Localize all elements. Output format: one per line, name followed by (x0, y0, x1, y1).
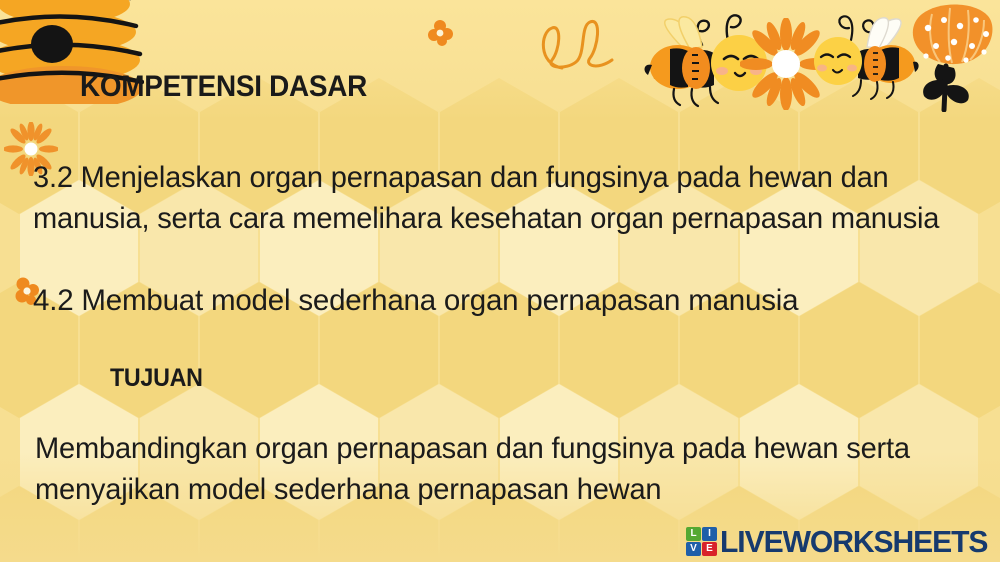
badge-letter-l: L (686, 527, 701, 541)
cursive-squiggle-icon (532, 16, 627, 74)
tujuan-body-text: Membandingkan organ pernapasan dan fungs… (35, 428, 961, 510)
logo-wordmark: LIVEWORKSHEETS (720, 526, 987, 557)
worksheet-slide: KOMPETENSI DASAR 3.2 Menjelaskan organ p… (0, 0, 1000, 562)
live-badge-icon: L I V E (686, 527, 717, 556)
small-flower-icon (425, 18, 455, 48)
kompetensi-item-2: 4.2 Membuat model sederhana organ pernap… (33, 280, 983, 321)
liveworksheets-logo: L I V E LIVEWORKSHEETS (686, 524, 996, 558)
kompetensi-item-1: 3.2 Menjelaskan organ pernapasan dan fun… (33, 157, 969, 239)
badge-letter-i: I (702, 527, 717, 541)
kompetensi-dasar-heading: KOMPETENSI DASAR (80, 70, 367, 104)
badge-letter-v: V (686, 542, 701, 556)
badge-letter-e: E (702, 542, 717, 556)
fan-flower-icon (898, 2, 1000, 112)
tujuan-heading: TUJUAN (110, 364, 203, 393)
